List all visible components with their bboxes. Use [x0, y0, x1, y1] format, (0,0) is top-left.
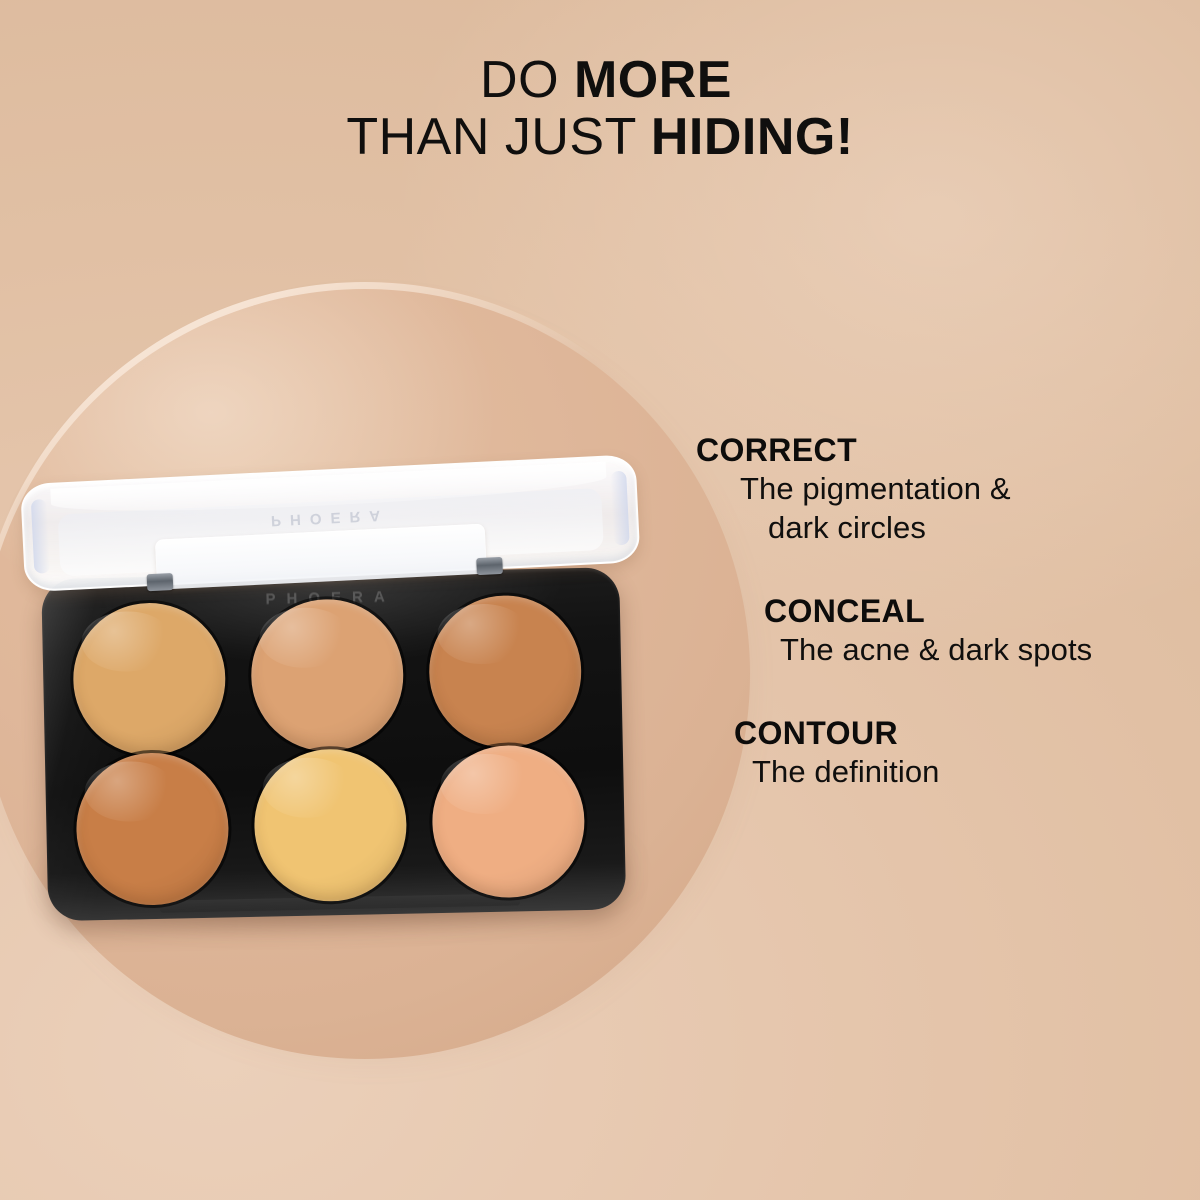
pan-shade-2-gloss	[259, 606, 351, 669]
benefit-contour: CONTOUR The definition	[690, 715, 1195, 791]
benefit-contour-title: CONTOUR	[734, 715, 1195, 752]
headline: DO MORE THAN JUST HIDING!	[0, 52, 1200, 166]
benefit-correct: CORRECT The pigmentation & dark circles	[690, 432, 1195, 547]
pan-shade-5[interactable]	[253, 748, 408, 903]
benefit-conceal-title: CONCEAL	[764, 593, 1195, 630]
pan-shade-1[interactable]	[72, 601, 227, 756]
palette-hinge-right	[476, 557, 503, 575]
benefit-correct-line-2: dark circles	[768, 508, 1195, 547]
pan-shade-1-gloss	[81, 610, 173, 673]
headline-line-1-bold: MORE	[574, 51, 732, 109]
pan-shade-4-gloss	[84, 760, 176, 823]
headline-line-1: DO MORE	[0, 52, 1200, 109]
benefit-correct-title: CORRECT	[696, 432, 1195, 469]
benefits-list: CORRECT The pigmentation & dark circles …	[690, 432, 1195, 792]
pan-shade-5-gloss	[262, 756, 354, 819]
pan-shade-3-gloss	[437, 603, 529, 666]
headline-line-1-light: DO	[480, 51, 574, 109]
benefit-conceal: CONCEAL The acne & dark spots	[690, 593, 1195, 669]
pan-shade-3[interactable]	[428, 594, 583, 749]
benefit-correct-line-1: The pigmentation &	[740, 469, 1195, 508]
headline-line-2-bold: HIDING!	[651, 108, 854, 166]
pan-grid	[72, 594, 598, 897]
headline-line-2: THAN JUST HIDING!	[0, 109, 1200, 166]
benefit-contour-line-1: The definition	[752, 752, 1195, 791]
pan-shade-4[interactable]	[75, 751, 230, 906]
pan-shade-2[interactable]	[250, 598, 405, 753]
product-banner: DO MORE THAN JUST HIDING! CORRECT The pi…	[0, 0, 1200, 1200]
benefit-conceal-line-1: The acne & dark spots	[780, 630, 1195, 669]
palette-hinge-left	[147, 573, 174, 591]
pan-shade-6[interactable]	[431, 744, 586, 899]
headline-line-2-light: THAN JUST	[346, 108, 651, 166]
concealer-palette: PHOERA PHOERA	[13, 448, 674, 972]
pan-shade-6-gloss	[440, 753, 532, 816]
